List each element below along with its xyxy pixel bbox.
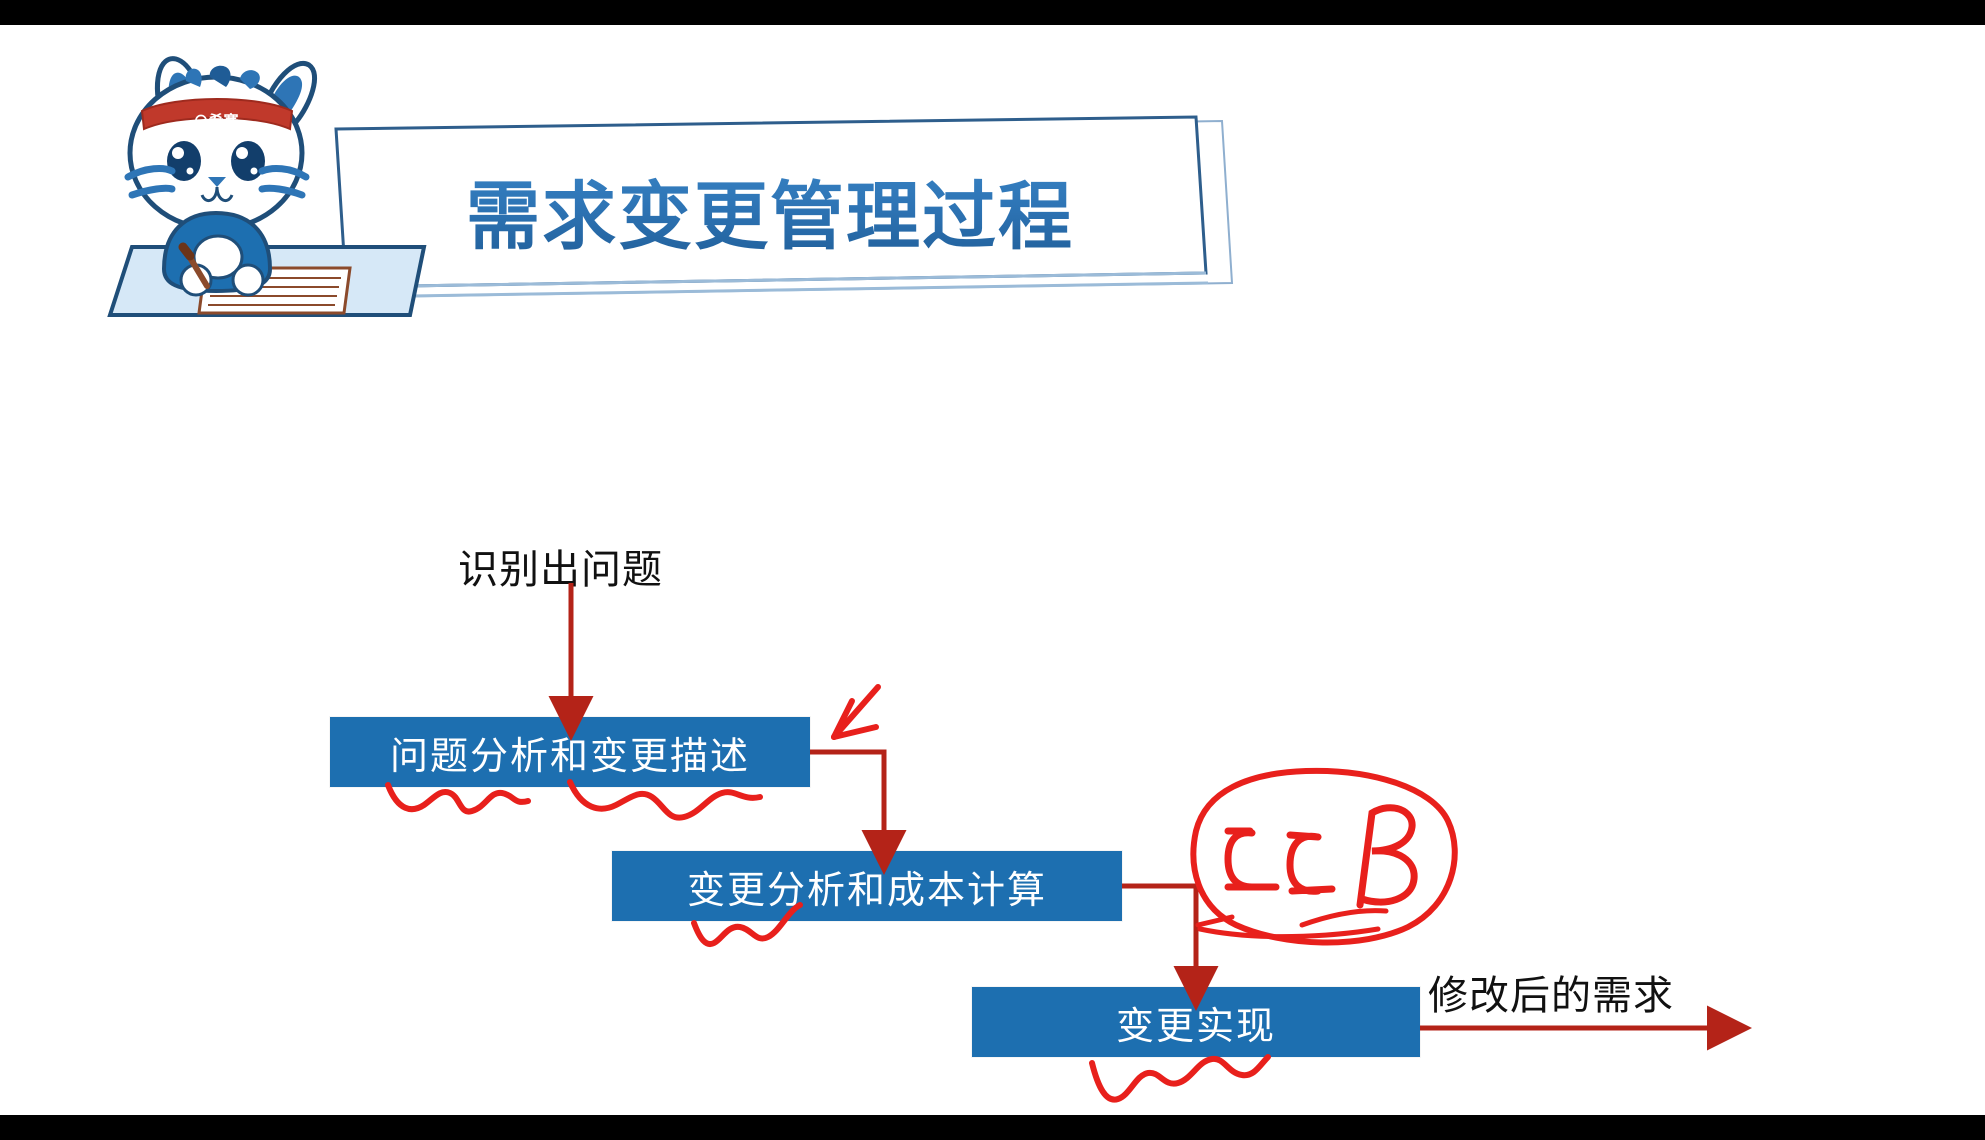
flow-end-label: 修改后的需求 (1428, 963, 1674, 1021)
underline-under-ccb-3 (1198, 917, 1232, 925)
headband-label: ⊖希赛 (193, 112, 239, 130)
flow-start-label: 识别出问题 (458, 537, 663, 595)
handdrawn-arrow-shaft (834, 687, 878, 737)
flow-box-problem-analysis[interactable]: 问题分析和变更描述 (330, 717, 810, 787)
letterbox-bottom (0, 1115, 1985, 1140)
cat-paper (199, 268, 350, 313)
flow-box-change-analysis[interactable]: 变更分析和成本计算 (612, 851, 1122, 921)
page-title: 需求变更管理过程 (330, 150, 1210, 270)
cat-head: ⊖希赛 (128, 66, 306, 229)
underline-under-ccb-2 (1302, 911, 1386, 925)
slide-canvas: 需求变更管理过程 ⊖希赛 (0, 25, 1985, 1115)
cat-body (164, 213, 270, 295)
underline-under-ccb-1 (1200, 929, 1378, 937)
handdrawn-arrow-barb-1 (834, 701, 852, 737)
circle-around-ccb (1193, 771, 1454, 943)
banner-rule-1 (346, 273, 1206, 287)
cat-ears (157, 59, 314, 122)
connector-box2-to-box3 (1122, 886, 1196, 977)
squiggle-underline-box3 (1092, 1057, 1268, 1100)
ccb-letter-b (1360, 808, 1414, 905)
ccb-letter-c2 (1290, 835, 1332, 891)
handdrawn-arrow-barb-2 (834, 727, 876, 737)
ccb-letter-c1 (1228, 831, 1276, 887)
letterbox-top (0, 0, 1985, 25)
connector-box1-to-box2 (810, 752, 884, 841)
squiggle-underline-box1 (388, 782, 760, 818)
flow-box-change-implementation[interactable]: 变更实现 (972, 987, 1420, 1057)
banner-rule-2 (350, 283, 1208, 297)
